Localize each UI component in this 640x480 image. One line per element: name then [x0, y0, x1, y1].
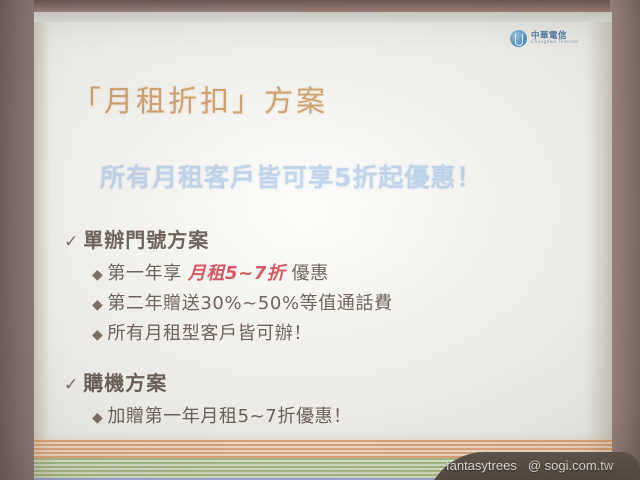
diamond-bullet-icon: ◆ — [92, 298, 103, 312]
chunghwa-telecom-logo-icon — [510, 30, 527, 47]
watermark-site: @ sogi.com.tw — [528, 458, 613, 473]
brand-name-en: Chunghwa Telecom — [531, 41, 578, 46]
bullet-text-pre: 所有月租型客戶皆可辦！ — [107, 319, 312, 345]
slide-subtitle: 所有月租客戶皆可享5折起優惠！ — [100, 158, 482, 194]
slide-band-pale — [34, 432, 612, 442]
diamond-bullet-icon: ◆ — [92, 328, 103, 342]
bullet-item: ◆ 第一年享 月租5~7折 優惠 — [92, 259, 584, 285]
bullet-item: ◆ 所有月租型客戶皆可辦！ — [92, 319, 584, 345]
watermark: fantasytrees @ sogi.com.tw — [446, 458, 613, 473]
room-wall-left — [0, 0, 34, 480]
bullet-item: ◆ 加贈第一年月租5~7折優惠！ — [92, 402, 584, 428]
photo-of-projected-slide: 中華電信 Chunghwa Telecom 「月租折扣」方案 所有月租客戶皆可享… — [0, 0, 640, 480]
brand-logo-text: 中華電信 Chunghwa Telecom — [531, 32, 578, 46]
ceiling-beam — [300, 0, 640, 12]
slide-body: ✓ 單辦門號方案 ◆ 第一年享 月租5~7折 優惠 ◆ 第二年贈送30%~50%… — [64, 224, 584, 432]
bullet-text-pre: 加贈第一年月租5~7折優惠！ — [107, 402, 351, 428]
section-heading-1-label: 單辦門號方案 — [83, 224, 209, 253]
section-heading-2: ✓ 購機方案 — [64, 367, 584, 396]
room-wall-right — [610, 0, 640, 480]
brand-logo: 中華電信 Chunghwa Telecom — [510, 30, 578, 47]
slide-title: 「月租折扣」方案 — [72, 78, 328, 120]
bullet-text-pre: 第一年享 — [107, 259, 181, 285]
section-heading-2-label: 購機方案 — [83, 367, 167, 396]
section-heading-1: ✓ 單辦門號方案 — [64, 224, 584, 253]
bullet-text-pre: 第二年贈送30%~50%等值通話費 — [107, 289, 392, 315]
check-icon: ✓ — [64, 234, 79, 251]
projection-screen: 中華電信 Chunghwa Telecom 「月租折扣」方案 所有月租客戶皆可享… — [34, 22, 612, 480]
screen-shadow-left — [34, 22, 50, 480]
bullet-text-post: 優惠 — [292, 259, 329, 285]
bullet-text-emphasis: 月租5~7折 — [186, 259, 288, 285]
watermark-user: fantasytrees — [446, 458, 517, 473]
diamond-bullet-icon: ◆ — [92, 411, 103, 425]
diamond-bullet-icon: ◆ — [92, 268, 103, 282]
screen-shadow-right — [586, 22, 612, 480]
bullet-item: ◆ 第二年贈送30%~50%等值通話費 — [92, 289, 584, 315]
check-icon: ✓ — [64, 377, 79, 394]
